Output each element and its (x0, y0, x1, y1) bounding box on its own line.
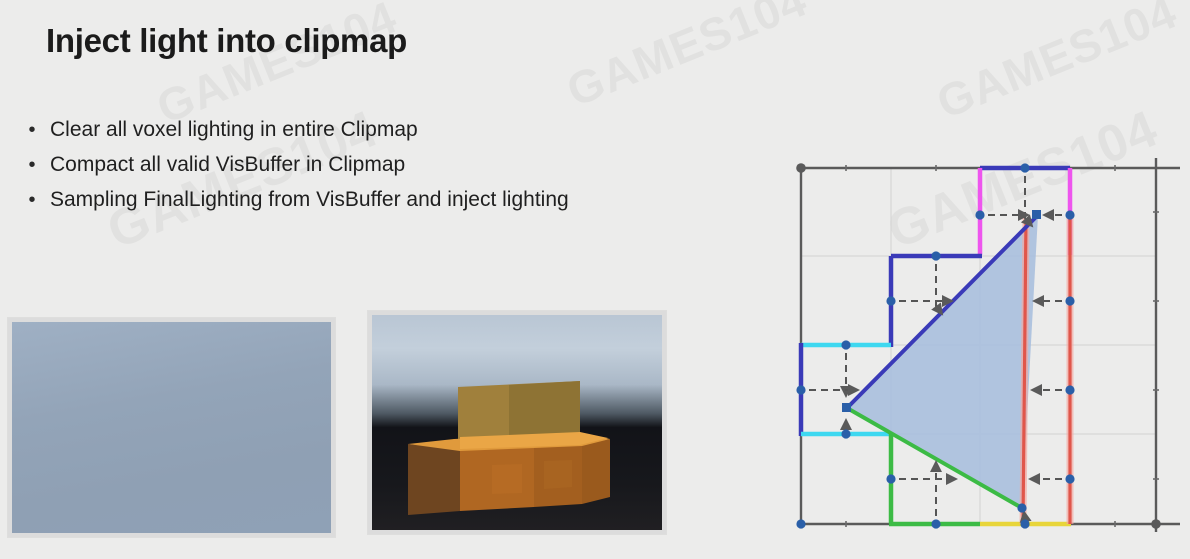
list-item-label: Compact all valid VisBuffer in Clipmap (50, 151, 405, 179)
clipmap-diagram-svg (780, 140, 1190, 550)
voxel-bench-illustration (372, 315, 662, 530)
arrow-bottom-up (1024, 512, 1025, 518)
voxel-seat-side-left (408, 444, 460, 515)
sample-point-dot (931, 519, 940, 528)
sample-point-dot (1065, 296, 1074, 305)
sample-point-dot (841, 429, 850, 438)
bench-render-canvas (12, 322, 331, 533)
list-item-label: Clear all voxel lighting in entire Clipm… (50, 116, 418, 144)
sample-point-dot (975, 210, 984, 219)
watermark-text: GAMES104 (559, 0, 814, 118)
voxel-block-a (492, 464, 522, 494)
bullet-marker-icon: • (14, 186, 50, 214)
list-item: • Clear all voxel lighting in entire Cli… (14, 116, 774, 144)
sample-point-dot (1065, 210, 1074, 219)
corner-dot (1151, 519, 1161, 529)
corner-dot (796, 163, 806, 173)
sample-point-dot (796, 385, 805, 394)
bullet-marker-icon: • (14, 116, 50, 144)
sample-point-square (842, 403, 851, 412)
bullet-list: • Clear all voxel lighting in entire Cli… (14, 116, 774, 221)
sample-point-dot (886, 474, 895, 483)
list-item: • Sampling FinalLighting from VisBuffer … (14, 186, 774, 214)
sample-point-dot (796, 519, 805, 528)
bullet-marker-icon: • (14, 151, 50, 179)
sample-point-dot (1020, 519, 1029, 528)
page-title: Inject light into clipmap (46, 22, 407, 60)
voxel-back-panel-right (509, 381, 580, 438)
sample-point-dot (1065, 474, 1074, 483)
sample-point-dot (886, 296, 895, 305)
list-item-label: Sampling FinalLighting from VisBuffer an… (50, 186, 569, 214)
watermark-text: GAMES104 (929, 0, 1184, 130)
bench-render-image (8, 318, 335, 537)
sample-point-dot (1017, 503, 1026, 512)
sample-point-dot (1065, 385, 1074, 394)
bench-background (12, 322, 331, 533)
watermark-text: GAMES104 (149, 0, 404, 135)
voxel-render-canvas (372, 315, 662, 530)
sample-point-dot (931, 251, 940, 260)
arrow-mid-down (936, 264, 942, 314)
sample-point-square (1032, 210, 1041, 219)
voxel-render-image (368, 311, 666, 534)
list-item: • Compact all valid VisBuffer in Clipmap (14, 151, 774, 179)
clipmap-diagram (780, 140, 1190, 550)
voxel-block-b (544, 460, 572, 489)
slide-canvas: GAMES104 GAMES104 GAMES104 GAMES104 GAME… (0, 0, 1190, 559)
voxel-seat-side-right (582, 439, 610, 504)
sample-point-dot (1020, 163, 1029, 172)
sample-point-dot (841, 340, 850, 349)
